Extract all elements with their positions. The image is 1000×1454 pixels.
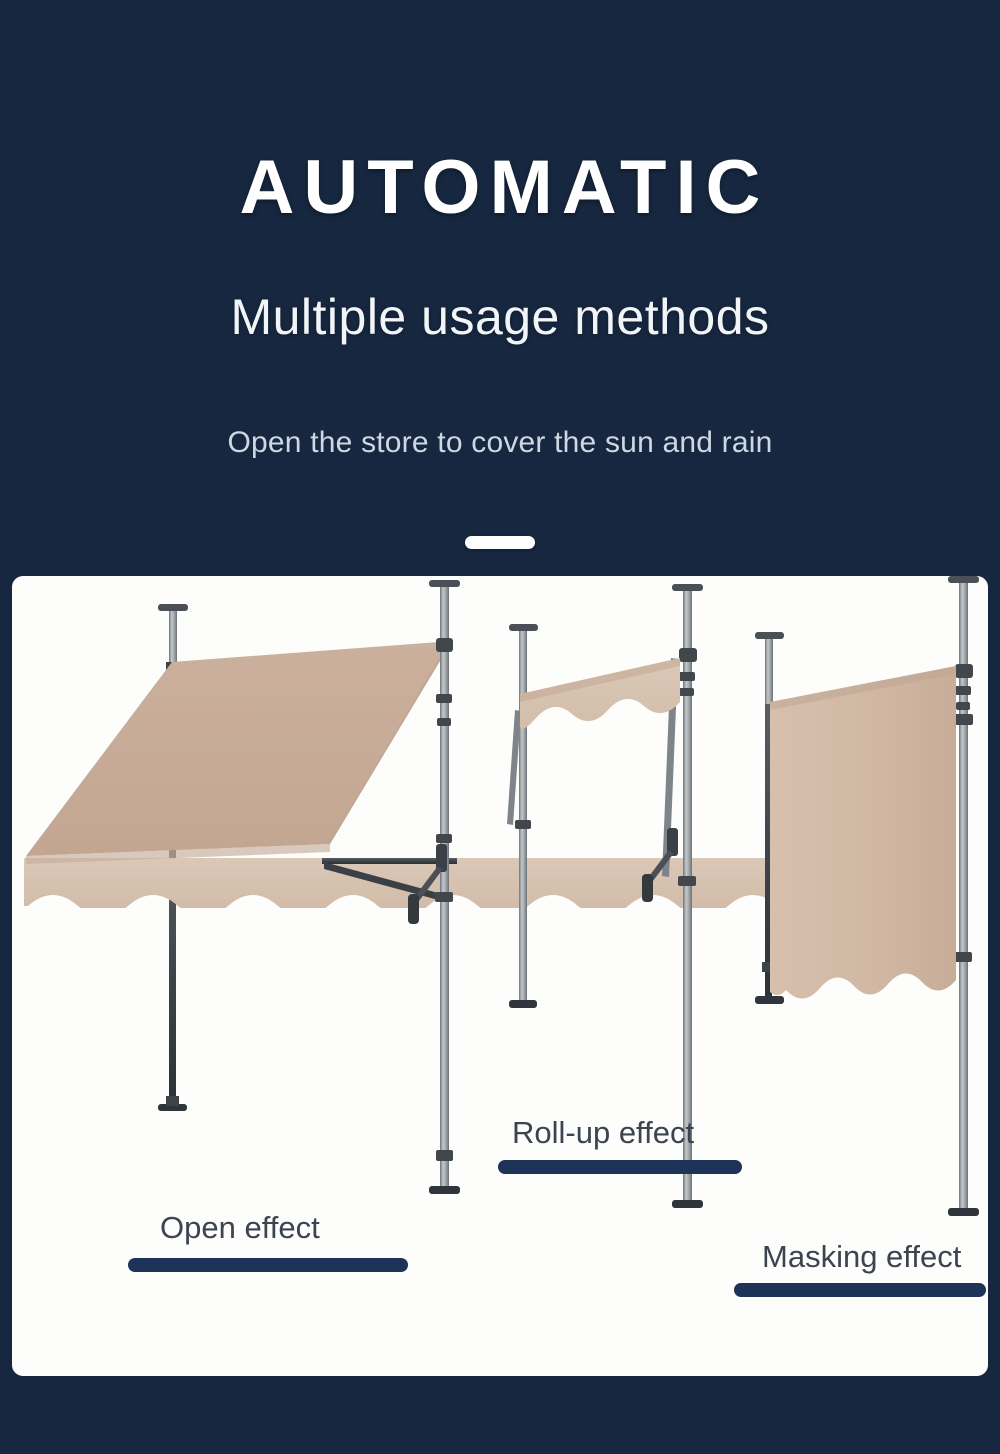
product-banner: AUTOMATIC Multiple usage methods Open th… — [0, 0, 1000, 1454]
canopy-top-open — [26, 641, 452, 856]
banner-header: AUTOMATIC Multiple usage methods Open th… — [0, 0, 1000, 576]
divider-pill — [465, 536, 535, 549]
pole-left-masking — [755, 632, 784, 704]
page-title: AUTOMATIC — [0, 150, 1000, 226]
leg-left-rollup — [507, 704, 537, 1008]
page-tagline: Open the store to cover the sun and rain — [0, 428, 1000, 458]
awning-masking-effect — [755, 576, 979, 1216]
caption-rollup-effect: Roll-up effect — [512, 1117, 694, 1148]
caption-masking-effect: Masking effect — [762, 1241, 961, 1272]
pole-upper-left — [158, 604, 188, 671]
caption-bar-open-effect — [128, 1258, 408, 1272]
fabric-masking — [770, 666, 956, 999]
caption-open-effect: Open effect — [160, 1212, 320, 1243]
page-subtitle: Multiple usage methods — [0, 292, 1000, 342]
caption-bar-masking-effect — [734, 1283, 986, 1297]
caption-bar-rollup-effect — [498, 1160, 742, 1174]
fabric-rollup — [520, 658, 680, 736]
